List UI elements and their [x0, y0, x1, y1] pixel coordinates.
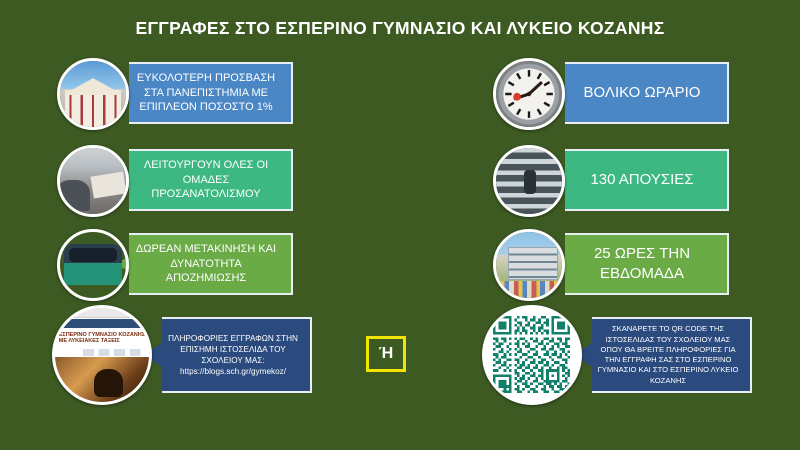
website-info-banner[interactable]: ΠΛΗΡΟΦΟΡΙΕΣ ΕΓΓΡΑΦΩΝ ΣΤΗΝ ΕΠΙΣΗΜΗ ΙΣΤΟΣΕ…: [144, 317, 312, 393]
qr-info-row[interactable]: ΣΚΑΝΑΡΕΤΕ ΤΟ QR CODE ΤΗΣ ΙΣΤΟΣΕΛΙΔΑΣ ΤΟΥ…: [482, 305, 750, 405]
qr-info-text: ΣΚΑΝΑΡΕΤΕ ΤΟ QR CODE ΤΗΣ ΙΣΤΟΣΕΛΙΔΑΣ ΤΟΥ…: [594, 324, 742, 386]
feature-banner-left-1[interactable]: ΕΥΚΟΛΟΤΕΡΗ ΠΡΟΣΒΑΣΗ ΣΤΑ ΠΑΝΕΠΙΣΤΗΜΙΑ ΜΕ …: [115, 62, 293, 124]
feature-row-left-3[interactable]: ΔΩΡΕΑΝ ΜΕΤΑΚΙΝΗΣΗ ΚΑΙ ΔΥΝΑΤΟΤΗΤΑ ΑΠΟΖΗΜΙ…: [51, 229, 291, 301]
clock-icon: [496, 61, 562, 127]
school-building-photo-icon: [493, 229, 565, 301]
slide-canvas: ΕΓΓΡΑΦΕΣ ΣΤΟ ΕΣΠΕΡΙΝΟ ΓΥΜΝΑΣΙΟ ΚΑΙ ΛΥΚΕΙ…: [0, 0, 800, 450]
feature-banner-left-2[interactable]: ΛΕΙΤΟΥΡΓΟΥΝ ΟΛΕΣ ΟΙ ΟΜΑΔΕΣ ΠΡΟΣΑΝΑΤΟΛΙΣΜ…: [115, 149, 293, 211]
or-connector-label: Ή: [379, 345, 394, 363]
feature-label: ΛΕΙΤΟΥΡΓΟΥΝ ΟΛΕΣ ΟΙ ΟΜΑΔΕΣ ΠΡΟΣΑΝΑΤΟΛΙΣΜ…: [131, 158, 281, 203]
classroom-photo-icon: [57, 145, 129, 217]
qr-info-banner[interactable]: ΣΚΑΝΑΡΕΤΕ ΤΟ QR CODE ΤΗΣ ΙΣΤΟΣΕΛΙΔΑΣ ΤΟΥ…: [574, 317, 752, 393]
page-title: ΕΓΓΡΑΦΕΣ ΣΤΟ ΕΣΠΕΡΙΝΟ ΓΥΜΝΑΣΙΟ ΚΑΙ ΛΥΚΕΙ…: [0, 18, 800, 39]
feature-label: ΔΩΡΕΑΝ ΜΕΤΑΚΙΝΗΣΗ ΚΑΙ ΔΥΝΑΤΟΤΗΤΑ ΑΠΟΖΗΜΙ…: [131, 242, 281, 287]
clock-photo-icon: [493, 58, 565, 130]
feature-label: ΒΟΛΙΚΟ ΩΡΑΡΙΟ: [567, 83, 717, 103]
feature-row-left-2[interactable]: ΛΕΙΤΟΥΡΓΟΥΝ ΟΛΕΣ ΟΙ ΟΜΑΔΕΣ ΠΡΟΣΑΝΑΤΟΛΙΣΜ…: [51, 145, 291, 217]
feature-banner-right-2[interactable]: 130 ΑΠΟΥΣΙΕΣ: [551, 149, 729, 211]
feature-row-left-1[interactable]: ΕΥΚΟΛΟΤΕΡΗ ΠΡΟΣΒΑΣΗ ΣΤΑ ΠΑΝΕΠΙΣΤΗΜΙΑ ΜΕ …: [51, 58, 291, 130]
feature-label: 130 ΑΠΟΥΣΙΕΣ: [567, 170, 717, 190]
feature-row-right-3[interactable]: 25 ΩΡΕΣ ΤΗΝ ΕΒΔΟΜΑΔΑ: [487, 229, 727, 301]
feature-banner-left-3[interactable]: ΔΩΡΕΑΝ ΜΕΤΑΚΙΝΗΣΗ ΚΑΙ ΔΥΝΑΤΟΤΗΤΑ ΑΠΟΖΗΜΙ…: [115, 233, 293, 295]
website-info-row[interactable]: ΕΣΠΕΡΙΝΟ ΓΥΜΝΑΣΙΟ ΚΟΖΑΝΗΣ ΜΕ ΛΥΚΕΙΑΚΕΣ Τ…: [52, 305, 310, 405]
feature-banner-right-1[interactable]: ΒΟΛΙΚΟ ΩΡΑΡΙΟ: [551, 62, 729, 124]
website-thumbnail-heading: ΕΣΠΕΡΙΝΟ ΓΥΜΝΑΣΙΟ ΚΟΖΑΝΗΣ ΜΕ ΛΥΚΕΙΑΚΕΣ Τ…: [59, 332, 146, 346]
qr-code-graphic: [493, 316, 570, 393]
website-info-text: ΠΛΗΡΟΦΟΡΙΕΣ ΕΓΓΡΑΦΩΝ ΣΤΗΝ ΕΠΙΣΗΜΗ ΙΣΤΟΣΕ…: [164, 333, 302, 377]
feature-label: 25 ΩΡΕΣ ΤΗΝ ΕΒΔΟΜΑΔΑ: [567, 244, 717, 285]
garage-photo-icon: [493, 145, 565, 217]
feature-banner-right-3[interactable]: 25 ΩΡΕΣ ΤΗΝ ΕΒΔΟΜΑΔΑ: [551, 233, 729, 295]
bus-photo-icon: [57, 229, 129, 301]
university-photo-icon: [57, 58, 129, 130]
or-connector-box: Ή: [366, 336, 406, 372]
qr-code-icon: [482, 305, 582, 405]
feature-row-right-2[interactable]: 130 ΑΠΟΥΣΙΕΣ: [487, 145, 727, 217]
feature-label: ΕΥΚΟΛΟΤΕΡΗ ΠΡΟΣΒΑΣΗ ΣΤΑ ΠΑΝΕΠΙΣΤΗΜΙΑ ΜΕ …: [131, 71, 281, 116]
website-screenshot-icon: ΕΣΠΕΡΙΝΟ ΓΥΜΝΑΣΙΟ ΚΟΖΑΝΗΣ ΜΕ ΛΥΚΕΙΑΚΕΣ Τ…: [52, 305, 152, 405]
feature-row-right-1[interactable]: ΒΟΛΙΚΟ ΩΡΑΡΙΟ: [487, 58, 727, 130]
